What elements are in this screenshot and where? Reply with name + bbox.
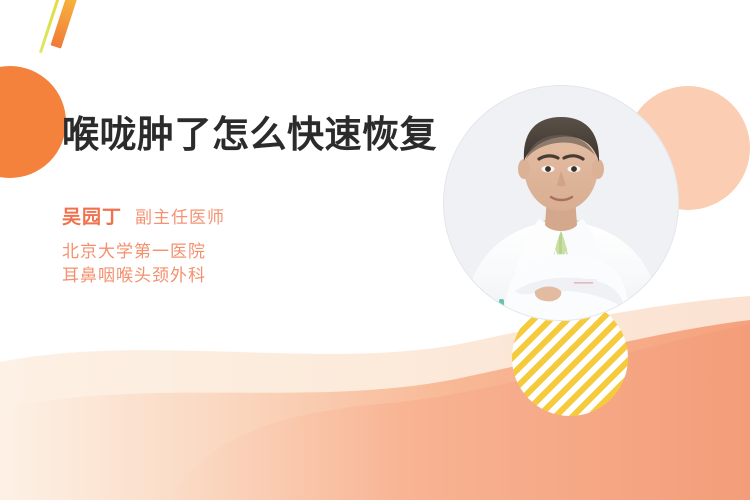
- doctor-avatar: [443, 85, 679, 321]
- doctor-hospital: 北京大学第一医院: [62, 240, 442, 265]
- doctor-affiliation: 北京大学第一医院 耳鼻咽喉头颈外科: [62, 240, 442, 289]
- orange-diagonal-streak-icon: [50, 0, 80, 49]
- medical-video-card: 喉咙肿了怎么快速恢复 吴园丁 副主任医师 北京大学第一医院 耳鼻咽喉头颈外科: [0, 0, 750, 500]
- salmon-front-lobe-shape: [170, 324, 750, 500]
- doctor-department: 耳鼻咽喉头颈外科: [62, 264, 442, 289]
- doctor-name: 吴园丁: [62, 202, 122, 229]
- doctor-byline: 吴园丁 副主任医师: [62, 202, 442, 229]
- doctor-rank: 副主任医师: [135, 203, 225, 228]
- doctor-portrait-illustration: [443, 85, 679, 321]
- yellow-diagonal-streak-icon: [39, 0, 61, 53]
- bottom-wave-decoration: [0, 280, 750, 500]
- salmon-wave-shape: [0, 320, 750, 500]
- cream-wave-shape: [0, 296, 750, 500]
- text-content: 喉咙肿了怎么快速恢复 吴园丁 副主任医师 北京大学第一医院 耳鼻咽喉头颈外科: [62, 112, 442, 289]
- page-title: 喉咙肿了怎么快速恢复: [62, 112, 442, 159]
- orange-circle-icon: [0, 66, 66, 178]
